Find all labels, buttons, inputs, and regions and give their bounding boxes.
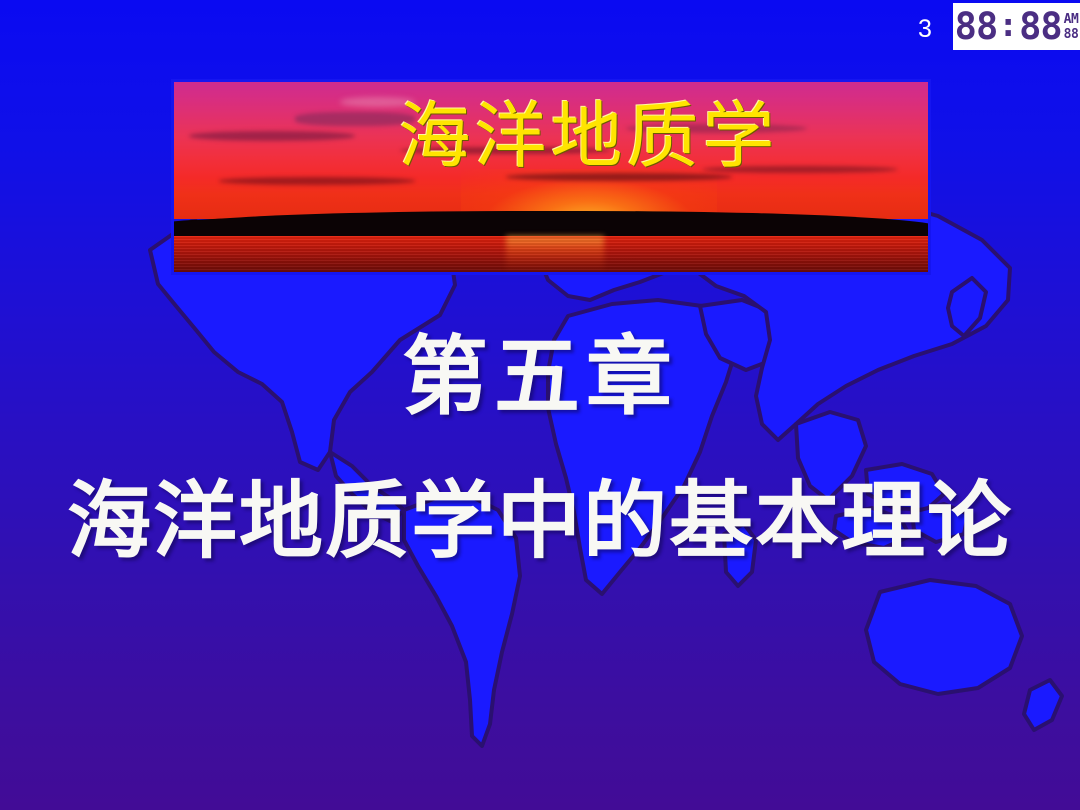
clock-seconds: 88 — [1064, 27, 1079, 42]
digital-clock-widget[interactable]: 88 : 88 AM 88 — [953, 3, 1080, 50]
chapter-heading: 第五章 — [0, 325, 1080, 429]
clock-colon-icon: : — [997, 8, 1019, 41]
clock-meridiem: AM — [1064, 12, 1079, 27]
page-number: 3 — [908, 14, 942, 44]
presentation-slide: 3 88 : 88 AM 88 海洋地 — [0, 0, 1080, 810]
land-silhouette — [174, 211, 928, 236]
clock-indicator-stack: AM 88 — [1064, 12, 1079, 42]
water-ripples — [174, 236, 928, 272]
water-reflection — [174, 236, 928, 272]
clock-minutes: 88 — [1019, 8, 1062, 45]
banner-overlay-title: 海洋地质学 — [174, 88, 928, 184]
slide-title: 海洋地质学中的基本理论 — [0, 470, 1080, 572]
course-banner-image: 海洋地质学 — [171, 79, 931, 275]
clock-hours: 88 — [955, 8, 998, 45]
